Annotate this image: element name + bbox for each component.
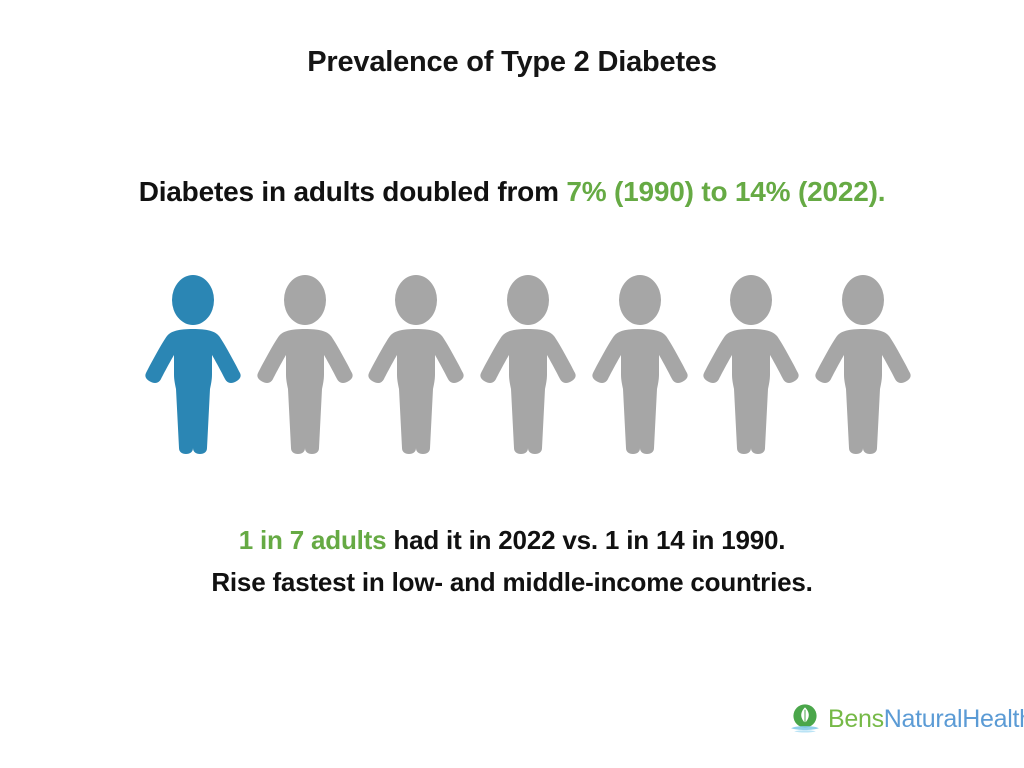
caption-line-2: Rise fastest in low- and middle-income c… xyxy=(0,561,1024,603)
caption-line-1: 1 in 7 adults had it in 2022 vs. 1 in 14… xyxy=(0,519,1024,561)
caption-block: 1 in 7 adults had it in 2022 vs. 1 in 14… xyxy=(0,519,1024,603)
caption-line-1-rest: had it in 2022 vs. 1 in 14 in 1990. xyxy=(386,525,785,555)
person-icon-2-muted xyxy=(257,275,353,459)
infographic-canvas: Prevalence of Type 2 Diabetes Diabetes i… xyxy=(0,0,1024,768)
brand-logo[interactable]: BensNaturalHealth xyxy=(788,702,1024,736)
caption-ratio-highlight: 1 in 7 adults xyxy=(239,525,387,555)
person-icon-6-muted xyxy=(703,275,799,459)
subtitle-highlight-stat: 7% (1990) to 14% (2022). xyxy=(566,176,885,207)
leaf-in-circle-icon xyxy=(788,702,822,736)
pictogram-chart xyxy=(145,275,911,459)
brand-logo-text: BensNaturalHealth xyxy=(828,707,1024,732)
brand-logo-text-naturalhealth: NaturalHealth xyxy=(884,705,1024,733)
page-title: Prevalence of Type 2 Diabetes xyxy=(0,46,1024,79)
person-icon-4-muted xyxy=(480,275,576,459)
person-icon-3-muted xyxy=(368,275,464,459)
subtitle-lead-text: Diabetes in adults doubled from xyxy=(139,176,567,207)
person-icon-7-muted xyxy=(815,275,911,459)
brand-logo-text-bens: Bens xyxy=(828,705,884,733)
person-icon-5-muted xyxy=(592,275,688,459)
subtitle: Diabetes in adults doubled from 7% (1990… xyxy=(0,176,1024,208)
person-icon-1-highlighted xyxy=(145,275,241,459)
